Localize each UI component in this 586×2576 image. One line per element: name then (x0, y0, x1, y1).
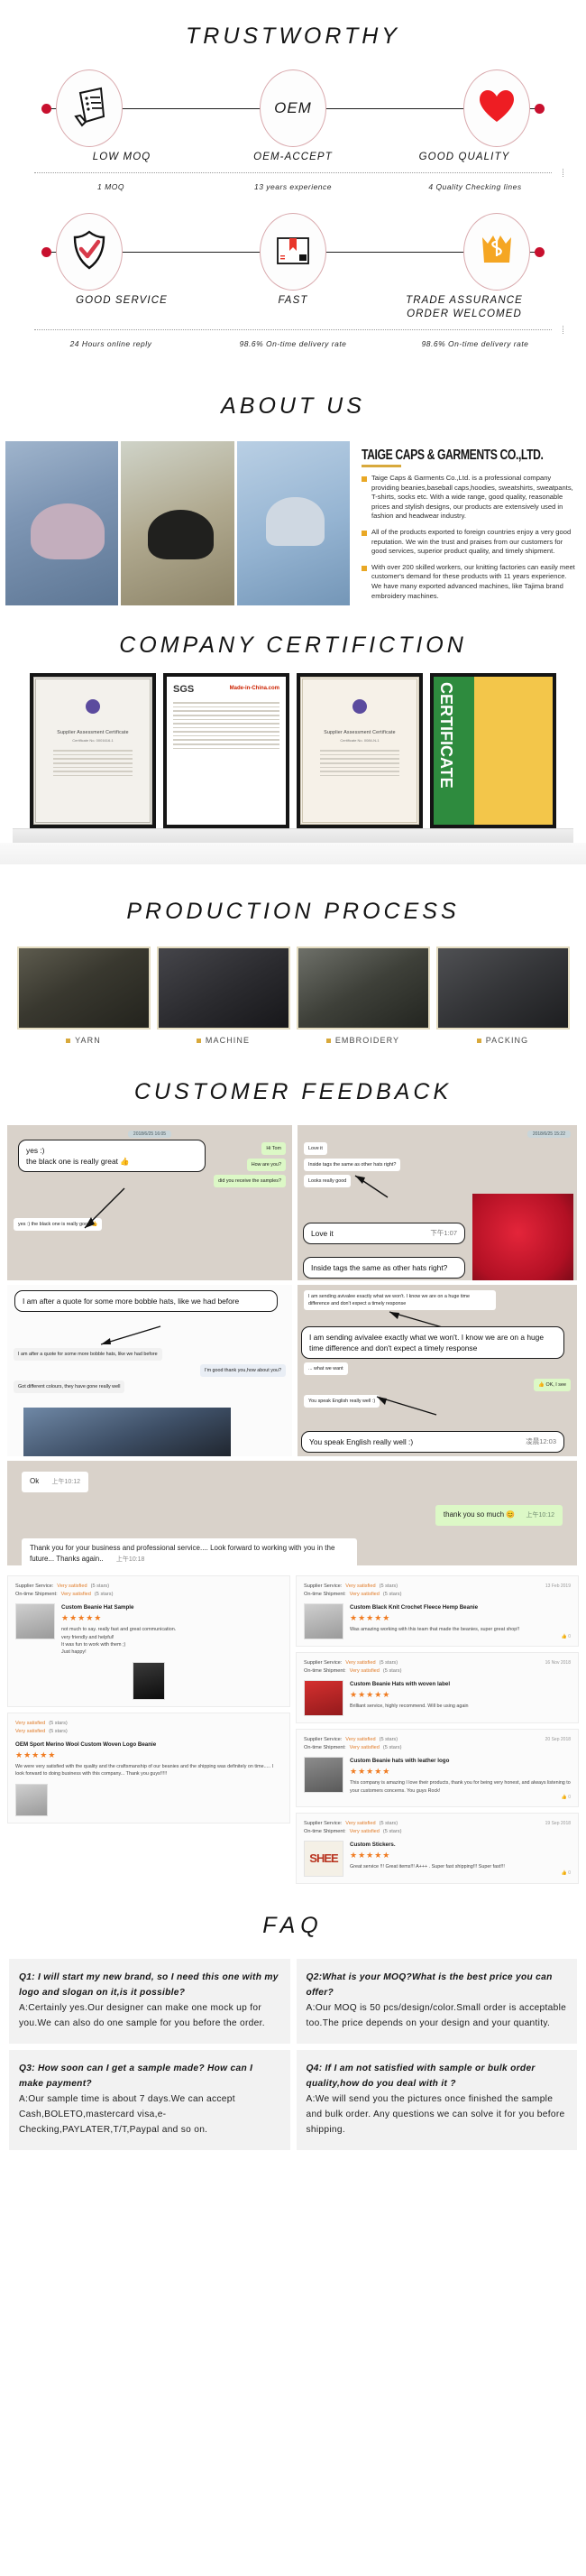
chat-bubble: Thank you for your business and professi… (22, 1538, 357, 1565)
review-rating-shipment: Very satisfied (5 stars) (15, 1728, 282, 1736)
trust-dot-right (535, 104, 545, 114)
review-product-name: Custom Black Knit Crochet Fleece Hemp Be… (350, 1603, 571, 1611)
trade-assurance-icon (479, 232, 515, 272)
trust-label-good-service: GOOD SERVICE (36, 294, 207, 321)
production-step-label-wrap: EMBROIDERY (297, 1029, 430, 1045)
trade-assurance-line1: TRADE ASSURANCE (406, 295, 523, 306)
bullet-square-icon (362, 531, 367, 536)
bullet-square-icon (66, 1039, 70, 1043)
callout-time: 凌晨12:03 (526, 1436, 556, 1447)
fast-badge (260, 213, 326, 291)
bullet-square-icon (362, 566, 367, 571)
review-rating-supplier: Supplier Service: Very satisfied (5 star… (304, 1659, 571, 1667)
certificate-heading: Supplier Assessment Certificate (324, 730, 395, 735)
trust-sub-oem-accept: 13 years experience (202, 181, 384, 193)
trust-label-oem-accept: OEM-ACCEPT (207, 151, 379, 164)
good-quality-badge (463, 69, 530, 147)
chat-bubble: ... what we want (304, 1362, 348, 1375)
packed-goods-photo (436, 946, 570, 1029)
red-baseball-cap-interior-photo (472, 1194, 573, 1280)
bullet-square-icon (197, 1039, 201, 1043)
callout-time: 下午1:07 (430, 1228, 457, 1239)
supplier-service-label: Supplier Service: (304, 1820, 342, 1828)
production-step-label-wrap: PACKING (436, 1029, 570, 1045)
low-moq-badge (56, 69, 123, 147)
supplier-service-stars: (5 stars) (380, 1736, 398, 1744)
trust-sub-good-service: 24 Hours online reply (20, 338, 202, 350)
review-like-count[interactable]: 👍 0 (350, 1634, 571, 1639)
on-time-shipment-value: Very satisfied (350, 1744, 380, 1752)
on-time-shipment-value: Very satisfied (350, 1828, 380, 1836)
review-rating-shipment: On-time Shipment: Very satisfied (5 star… (304, 1591, 571, 1599)
production-step: YARN (17, 946, 151, 1045)
chat-bubble-text: thank you so much 😊 (444, 1510, 515, 1519)
callout-bubble-quote: I am after a quote for some more bobble … (14, 1290, 278, 1312)
faq-answer: A:We will send you the pictures once fin… (307, 2091, 568, 2137)
star-rating-icon: ★★★★★ (350, 1613, 571, 1623)
chat-screenshot-2: 2018/6/25 15:22 Love it Inside tags the … (298, 1125, 577, 1280)
review-product-thumb (304, 1680, 343, 1716)
review-text: Brilliant service, highly recommend. Wil… (350, 1703, 571, 1710)
faq-question: Q1: I will start my new brand, so I need… (19, 1970, 280, 2000)
yarn-warehouse-photo (17, 946, 151, 1029)
trade-assurance-badge (463, 213, 530, 291)
review-product-name: Custom Beanie Hats with woven label (350, 1680, 571, 1688)
star-rating-icon: ★★★★★ (15, 1750, 282, 1760)
supplier-service-label: Supplier Service: (304, 1583, 342, 1591)
trade-assurance-line2: ORDER WELCOMED (407, 309, 522, 319)
thumbs-up-icon: 👍 (562, 1870, 567, 1876)
star-rating-icon: ★★★★★ (350, 1767, 571, 1777)
faq-question: Q3: How soon can I get a sample made? Ho… (19, 2061, 280, 2091)
child-in-knit-beanie-photo (237, 441, 350, 605)
chat-bubble: did you receive the samples? (214, 1175, 286, 1187)
supplier-service-stars: (5 stars) (380, 1659, 398, 1667)
chat-bubble: You speak English really well :) (304, 1395, 380, 1408)
chat-bubble: 👍 OK, I see (534, 1379, 571, 1391)
gold-rule (362, 465, 401, 467)
certificate-heading: Supplier Assessment Certificate (57, 730, 128, 735)
callout-bubble-love-it: 下午1:07 Love it (303, 1223, 465, 1244)
chat-bubble: I am after a quote for some more bobble … (14, 1348, 162, 1361)
faq-answer: A:Our MOQ is 50 pcs/design/color.Small o… (307, 2000, 568, 2031)
review-card: Supplier Service: Very satisfied (5 star… (296, 1813, 579, 1884)
chat-screenshot-5: Ok 上午10:12 thank you so much 😊 上午10:12 T… (7, 1461, 577, 1565)
supplier-service-stars: (5 stars) (49, 1720, 68, 1728)
black-beanie-photo (133, 1662, 165, 1700)
review-product-name: Custom Beanie Hat Sample (61, 1603, 282, 1611)
document-icon (71, 86, 107, 132)
supplier-service-label: Supplier Service: (304, 1736, 342, 1744)
review-card: Supplier Service: Very satisfied (5 star… (296, 1729, 579, 1807)
trust-sub-good-quality: 4 Quality Checking lines (384, 181, 566, 193)
trust-label-fast: FAST (207, 294, 379, 321)
review-rating-shipment: On-time Shipment: Very satisfied (5 star… (304, 1744, 571, 1752)
beanie-detail-photo (15, 1784, 48, 1816)
sticker-logo-text: SHEE (309, 1851, 337, 1865)
review-rating-shipment: On-time Shipment: Very satisfied (5 star… (15, 1591, 282, 1599)
certificate-number: Certificate No. 0001616-1 (72, 738, 114, 743)
callout-bubble-sending: I am sending avivalee exactly what we wo… (301, 1326, 564, 1359)
production-step-label-wrap: MACHINE (157, 1029, 290, 1045)
review-date: 13 Feb 2019 (545, 1583, 571, 1591)
knitting-machine-photo (157, 946, 290, 1029)
faq-title: FAQ (0, 1889, 586, 1959)
callout-bubble-1: yes :) the black one is really great 👍 (18, 1140, 206, 1172)
on-time-shipment-value: Very satisfied (15, 1728, 45, 1736)
about-us-title: ABOUT US (0, 357, 586, 441)
certification-section: COMPANY CERTIFICTION Supplier Assessment… (0, 613, 586, 864)
chat-bubble: Got different colours, they have gone re… (14, 1380, 124, 1393)
review-card: Supplier Service: Very satisfied (5 star… (296, 1652, 579, 1723)
trust-dot-left-2 (41, 247, 51, 257)
production-step-label: PACKING (486, 1036, 529, 1045)
callout-text: I am after a quote for some more bobble … (23, 1297, 239, 1306)
chat-bubble-text: Thank you for your business and professi… (30, 1544, 334, 1563)
chat-bubble-time: 上午10:18 (116, 1556, 145, 1563)
callout-arrow-icon (346, 1168, 400, 1205)
review-card: Supplier Service: Very satisfied (5 star… (7, 1575, 290, 1707)
about-us-section: ABOUT US TAIGE CAPS & GARMENTS CO.,LTD. … (0, 357, 586, 613)
faq-answer: A:Our sample time is about 7 days.We can… (19, 2091, 280, 2137)
review-text: This company is amazing I love their pro… (350, 1779, 571, 1795)
report-body-lines (173, 702, 279, 752)
about-paragraph-text: Taige Caps & Garments Co.,Ltd. is a prof… (371, 474, 575, 522)
chat-bubble-text: Ok (30, 1477, 39, 1485)
supplier-service-value: Very satisfied (15, 1720, 45, 1728)
on-time-shipment-stars: (5 stars) (95, 1591, 114, 1599)
supplier-assessment-certificate: Supplier Assessment Certificate Certific… (30, 673, 156, 828)
reviews-section: Supplier Service: Very satisfied (5 star… (0, 1570, 586, 1889)
trust-sub-trade-assurance: 98.6% On-time delivery rate (384, 338, 566, 350)
trust-sub-low-moq: 1 MOQ (20, 181, 202, 193)
shield-check-icon (71, 230, 107, 274)
on-time-shipment-stars: (5 stars) (383, 1667, 402, 1676)
reviews-column-left: Supplier Service: Very satisfied (5 star… (7, 1575, 290, 1828)
certification-title: COMPANY CERTIFICTION (0, 613, 586, 673)
shelf-surface (13, 828, 573, 843)
production-step: EMBROIDERY (297, 946, 430, 1045)
supplier-service-label: Supplier Service: (15, 1583, 53, 1591)
shelf-front (0, 843, 586, 864)
faq-answer: A:Certainly yes.Our designer can make on… (19, 2000, 280, 2031)
trust-divider-2 (34, 329, 552, 330)
chat-bubble: I am sending avivalee exactly what we wo… (304, 1290, 496, 1310)
production-step-label: YARN (75, 1036, 101, 1045)
sgs-logo: SGS (173, 684, 194, 695)
chat-screenshot-4: I am sending avivalee exactly what we wo… (298, 1285, 577, 1456)
company-name: TAIGE CAPS & GARMENTS CO.,LTD. (362, 447, 575, 463)
assessment-seal-icon (353, 699, 367, 714)
supplier-assessment-certificate-2: Supplier Assessment Certificate Certific… (297, 673, 423, 828)
like-count: 0 (568, 1795, 571, 1800)
review-product-name: Custom Stickers. (350, 1841, 571, 1849)
supplier-service-label: Supplier Service: (304, 1659, 342, 1667)
star-rating-icon: ★★★★★ (350, 1851, 571, 1860)
chat-bubble: Looks really good (304, 1175, 351, 1187)
made-in-china-logo: Made-in-China.com (230, 686, 279, 691)
good-service-badge (56, 213, 123, 291)
thumbs-up-icon: 👍 (562, 1795, 567, 1800)
customer-feedback-title: CUSTOMER FEEDBACK (0, 1045, 586, 1125)
man-wearing-cap-photo (23, 1408, 231, 1456)
trust-label-trade-assurance: TRADE ASSURANCE ORDER WELCOMED (379, 294, 550, 321)
review-rating-supplier: Supplier Service: Very satisfied (5 star… (304, 1820, 571, 1828)
faq-item: Q2:What is your MOQ?What is the best pri… (297, 1959, 578, 2044)
faq-item: Q4: If I am not satisfied with sample or… (297, 2050, 578, 2150)
on-time-shipment-value: Very satisfied (350, 1591, 380, 1599)
about-paragraph: Taige Caps & Garments Co.,Ltd. is a prof… (362, 474, 575, 522)
production-step-label-wrap: YARN (17, 1029, 151, 1045)
chat-bubble: thank you so much 😊 上午10:12 (435, 1505, 563, 1526)
customer-feedback-section: CUSTOMER FEEDBACK 2018/6/25 16:05 Hi Tom… (0, 1045, 586, 1565)
callout-text: Inside tags the same as other hats right… (311, 1263, 447, 1272)
oem-accept-badge: OEM (260, 69, 326, 147)
chat-bubble: yes :) the black one is really good 👍 (14, 1218, 102, 1231)
review-text: Great service !!! Great items!!! A+++ . … (350, 1863, 571, 1870)
callout-bubble-inside-tags: Inside tags the same as other hats right… (303, 1257, 465, 1279)
chat-timestamp: 2018/6/25 16:05 (128, 1131, 171, 1138)
trust-dot-right-2 (535, 247, 545, 257)
faq-item: Q1: I will start my new brand, so I need… (9, 1959, 290, 2044)
trust-label-low-moq: LOW MOQ (36, 151, 207, 164)
supplier-service-stars: (5 stars) (380, 1820, 398, 1828)
faq-item: Q3: How soon can I get a sample made? Ho… (9, 2050, 290, 2150)
supplier-service-value: Very satisfied (345, 1820, 375, 1828)
chat-bubble: Inside tags the same as other hats right… (304, 1159, 400, 1171)
review-product-thumb (304, 1757, 343, 1793)
review-rating-shipment: On-time Shipment: Very satisfied (5 star… (304, 1828, 571, 1836)
chat-timestamp: 2018/6/25 15:22 (527, 1131, 571, 1138)
heart-icon (478, 89, 516, 128)
like-count: 0 (568, 1870, 571, 1876)
trustworthy-title: TRUSTWORTHY (0, 0, 586, 69)
trust-row-1: OEM LOW MOQ OEM-ACCEPT GOOD QUALITY (0, 69, 586, 200)
trust-row-1-subs: 1 MOQ 13 years experience 4 Quality Chec… (20, 181, 566, 193)
box-icon (275, 233, 311, 272)
like-count: 0 (568, 1634, 571, 1639)
chat-screenshot-1: 2018/6/25 16:05 Hi Tom How are you? did … (7, 1125, 292, 1280)
review-text: We were very satisfied with the quality … (15, 1763, 282, 1778)
review-card: Supplier Service: Very satisfied (5 star… (296, 1575, 579, 1647)
on-time-shipment-label: On-time Shipment: (304, 1744, 346, 1752)
callout-line-2: the black one is really great 👍 (26, 1156, 197, 1167)
certificate-body-lines (320, 750, 398, 779)
production-step-label: EMBROIDERY (335, 1036, 399, 1045)
trust-label-good-quality: GOOD QUALITY (379, 151, 550, 164)
trust-sub-fast: 98.6% On-time delivery rate (202, 338, 384, 350)
chat-bubble-time: 上午10:12 (526, 1512, 554, 1519)
on-time-shipment-stars: (5 stars) (383, 1744, 402, 1752)
callout-line-1: yes :) (26, 1145, 197, 1156)
trustworthy-section: TRUSTWORTHY (0, 0, 586, 357)
bullet-square-icon (326, 1039, 331, 1043)
woman-in-black-cap-photo (121, 441, 233, 605)
about-photo-gallery (5, 441, 350, 605)
chat-bubble-time: 上午10:12 (51, 1479, 80, 1485)
about-paragraph: All of the products exported to foreign … (362, 528, 575, 557)
review-text: not much to say. really fast and great c… (61, 1626, 282, 1657)
oem-text-icon: OEM (274, 99, 312, 117)
woman-in-pink-cap-photo (5, 441, 118, 605)
on-time-shipment-label: On-time Shipment: (304, 1828, 346, 1836)
bullet-square-icon (477, 1039, 481, 1043)
review-text: Was amazing working with this team that … (350, 1626, 571, 1633)
chat-bubble: How are you? (247, 1159, 286, 1171)
on-time-shipment-stars: (5 stars) (383, 1828, 402, 1836)
review-card: Very satisfied (5 stars) Very satisfied … (7, 1713, 290, 1824)
trust-row-2: GOOD SERVICE FAST TRADE ASSURANCE ORDER … (0, 213, 586, 357)
review-rating-shipment: On-time Shipment: Very satisfied (5 star… (304, 1667, 571, 1676)
sgs-made-in-china-report: SGS Made-in-China.com (163, 673, 289, 828)
about-text-block: TAIGE CAPS & GARMENTS CO.,LTD. Taige Cap… (353, 441, 581, 607)
chat-bubble: I'm good thank you,how about you? (200, 1364, 286, 1377)
review-like-count[interactable]: 👍 0 (350, 1870, 571, 1876)
review-date: 16 Nov 2018 (545, 1659, 571, 1667)
gray-beanie-thumb (15, 1603, 55, 1639)
trust-row-2-labels: GOOD SERVICE FAST TRADE ASSURANCE ORDER … (16, 294, 570, 321)
embroidery-machines-photo (297, 946, 430, 1029)
supplier-service-stars: (5 stars) (91, 1583, 110, 1591)
review-product-thumb (304, 1603, 343, 1639)
about-paragraph-text: With over 200 skilled workers, our knitt… (371, 563, 575, 601)
product-detail-page: TRUSTWORTHY (0, 0, 586, 2165)
chat-screenshot-3: I am after a quote for some more bobble … (7, 1285, 292, 1456)
assessment-seal-icon (86, 699, 100, 714)
supplier-service-value: Very satisfied (345, 1583, 375, 1591)
review-date: 19 Sep 2018 (545, 1820, 571, 1828)
trust-divider-1 (34, 172, 552, 173)
supplier-service-stars: (5 stars) (380, 1583, 398, 1591)
on-time-shipment-stars: (5 stars) (383, 1591, 402, 1599)
chat-bubble: Love it (304, 1142, 327, 1155)
on-time-shipment-label: On-time Shipment: (15, 1591, 58, 1599)
callout-text: I am sending avivalee exactly what we wo… (309, 1333, 544, 1353)
faq-section: FAQ Q1: I will start my new brand, so I … (0, 1889, 586, 2165)
about-paragraph-text: All of the products exported to foreign … (371, 528, 575, 557)
star-rating-icon: ★★★★★ (61, 1613, 282, 1623)
on-time-shipment-label: On-time Shipment: (304, 1591, 346, 1599)
chat-bubble: Hi Tom (261, 1142, 286, 1155)
review-product-name: Custom Beanie hats with leather logo (350, 1757, 571, 1765)
production-steps: YARN MACHINE EMBROIDERY (0, 946, 586, 1045)
on-time-shipment-value: Very satisfied (350, 1667, 380, 1676)
trust-row-2-subs: 24 Hours online reply 98.6% On-time deli… (20, 338, 566, 350)
reviews-column-right: Supplier Service: Very satisfied (5 star… (296, 1575, 579, 1889)
production-step: PACKING (436, 946, 570, 1045)
faq-question: Q4: If I am not satisfied with sample or… (307, 2061, 568, 2091)
thumbs-up-icon: 👍 (562, 1634, 567, 1639)
production-process-title: PRODUCTION PROCESS (0, 864, 586, 946)
about-paragraph: With over 200 skilled workers, our knitt… (362, 563, 575, 601)
certificate-number: Certificate No. 0084-N-1 (340, 738, 379, 743)
callout-bubble-english: 凌晨12:03 You speak English really well :) (301, 1431, 564, 1453)
trust-row-1-labels: LOW MOQ OEM-ACCEPT GOOD QUALITY (16, 151, 570, 164)
certificate-vertical-label: CERTIFICATE (436, 682, 455, 789)
production-step-label: MACHINE (206, 1036, 250, 1045)
on-time-shipment-label: On-time Shipment: (304, 1667, 346, 1676)
production-process-section: PRODUCTION PROCESS YARN MACHINE (0, 864, 586, 1045)
trust-dot-left (41, 104, 51, 114)
oeko-tex-confidence-in-textiles-certificate: CERTIFICATE (430, 673, 556, 828)
review-date: 20 Sep 2018 (545, 1736, 571, 1744)
on-time-shipment-value: Very satisfied (61, 1591, 91, 1599)
review-rating-supplier: Supplier Service: Very satisfied (5 star… (304, 1583, 571, 1591)
review-product-name: OEM Sport Merino Wool Custom Woven Logo … (15, 1740, 282, 1749)
production-step: MACHINE (157, 946, 290, 1045)
review-rating-supplier: Very satisfied (5 stars) (15, 1720, 282, 1728)
certificate-row: Supplier Assessment Certificate Certific… (13, 673, 573, 828)
on-time-shipment-stars: (5 stars) (49, 1728, 68, 1736)
callout-text: Love it (311, 1229, 334, 1238)
bullet-square-icon (362, 476, 367, 482)
supplier-service-value: Very satisfied (345, 1659, 375, 1667)
sticker-logo-thumb: SHEE (304, 1841, 343, 1877)
callout-text: You speak English really well :) (309, 1437, 413, 1446)
certificate-body-lines (53, 750, 132, 779)
supplier-service-value: Very satisfied (57, 1583, 87, 1591)
star-rating-icon: ★★★★★ (350, 1690, 571, 1700)
review-like-count[interactable]: 👍 0 (350, 1795, 571, 1800)
faq-question: Q2:What is your MOQ?What is the best pri… (307, 1970, 568, 2000)
review-rating-supplier: Supplier Service: Very satisfied (5 star… (304, 1736, 571, 1744)
review-rating-supplier: Supplier Service: Very satisfied (5 star… (15, 1583, 282, 1591)
chat-bubble: Ok 上午10:12 (22, 1472, 88, 1492)
supplier-service-value: Very satisfied (345, 1736, 375, 1744)
